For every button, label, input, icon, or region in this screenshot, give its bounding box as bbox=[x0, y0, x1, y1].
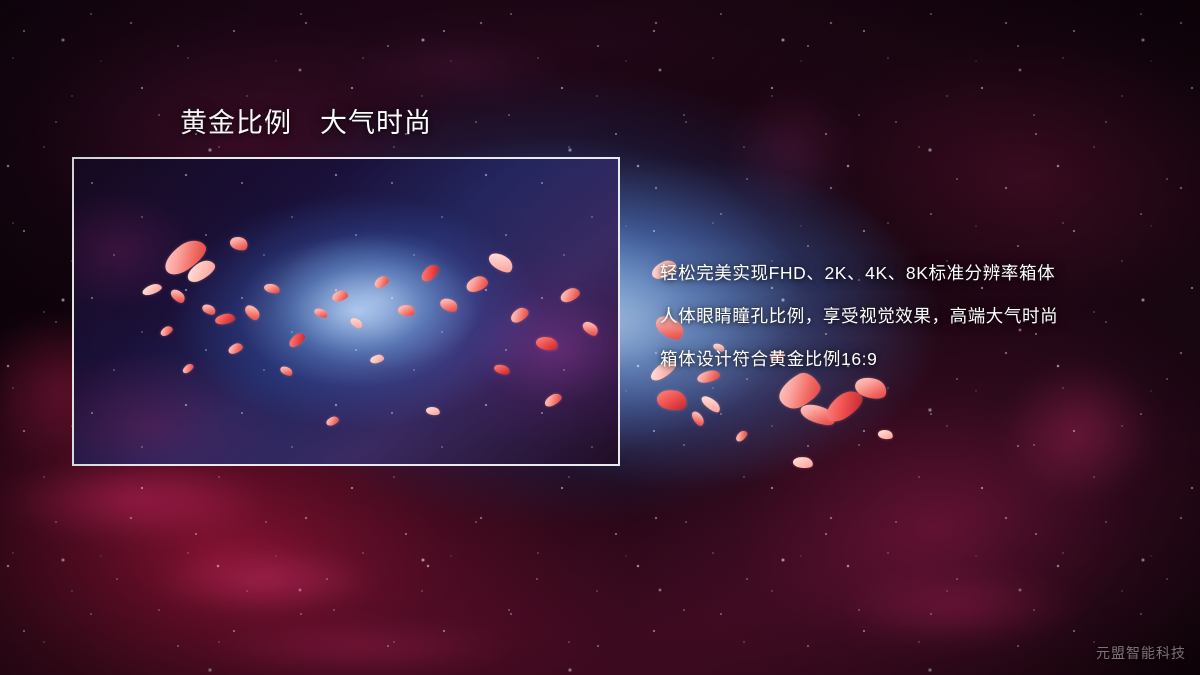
body-line-2: 人体眼睛瞳孔比例，享受视觉效果，高端大气时尚 bbox=[660, 295, 1160, 338]
photo-starfield bbox=[74, 159, 618, 464]
body-line-1: 轻松完美实现FHD、2K、4K、8K标准分辨率箱体 bbox=[660, 252, 1160, 295]
body-line-3: 箱体设计符合黄金比例16:9 bbox=[660, 338, 1160, 381]
framed-image bbox=[72, 157, 620, 466]
presentation-slide: 黄金比例 大气时尚 轻松完美实现FHD、2K、4K、8K标准分辨率箱体 人体眼睛… bbox=[0, 0, 1200, 675]
body-text-block: 轻松完美实现FHD、2K、4K、8K标准分辨率箱体 人体眼睛瞳孔比例，享受视觉效… bbox=[660, 252, 1160, 381]
watermark: 元盟智能科技 bbox=[1096, 643, 1186, 663]
page-title: 黄金比例 大气时尚 bbox=[180, 101, 432, 140]
